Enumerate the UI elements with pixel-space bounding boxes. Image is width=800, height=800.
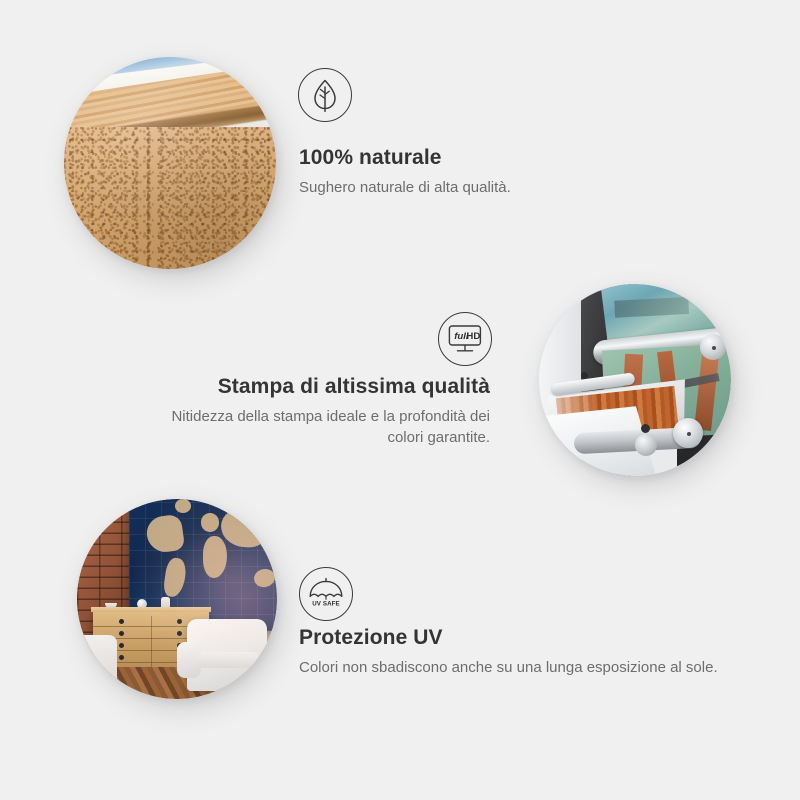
feature-title-natural: 100% naturale [299, 146, 699, 170]
feature-description-natural: Sughero naturale di alta qualità. [299, 177, 699, 198]
press-knob [641, 424, 650, 433]
cork-photo-inner [64, 57, 276, 269]
printing-press-photo [539, 284, 731, 476]
cork-texture-photo [64, 57, 276, 269]
feature-text-uv-protection: Protezione UV Colori non sbadiscono anch… [299, 626, 719, 678]
press-wheel [635, 434, 657, 456]
fullhd-label-hd: HD [466, 331, 480, 342]
leaf-icon [298, 68, 352, 122]
feature-text-natural: 100% naturale Sughero naturale di alta q… [299, 146, 699, 198]
feature-description-print-quality: Nitidezza della stampa ideale e la profo… [150, 406, 490, 449]
cork-vignette [64, 57, 276, 269]
uv-umbrella-icon: UV SAFE [299, 567, 353, 621]
feature-title-print-quality: Stampa di altissima qualità [150, 375, 490, 399]
fullhd-monitor-icon: full HD [438, 312, 492, 366]
feature-text-print-quality: Stampa di altissima qualità Nitidezza de… [150, 375, 490, 449]
interior-world-map-photo [77, 499, 277, 699]
feature-showcase: 100% naturale Sughero naturale di alta q… [0, 0, 800, 800]
uv-safe-label: UV SAFE [312, 601, 340, 608]
press-photo-inner [539, 284, 731, 476]
press-plank [694, 354, 718, 431]
room-light-glow [77, 499, 277, 699]
room-photo-inner [77, 499, 277, 699]
feature-title-uv-protection: Protezione UV [299, 626, 719, 650]
press-wheel [700, 334, 726, 360]
feature-description-uv-protection: Colori non sbadiscono anche su una lunga… [299, 657, 719, 678]
